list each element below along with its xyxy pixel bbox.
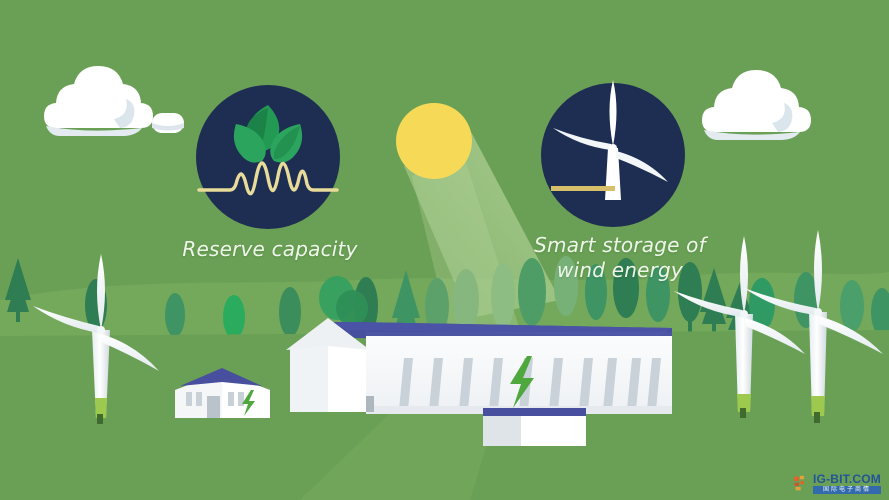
wind-storage-label: Smart storage of wind energy: [505, 233, 735, 283]
sun: [396, 103, 472, 179]
cloud-left-small: [152, 113, 184, 133]
front-annex-building: [483, 408, 586, 446]
gold-bar-icon: [551, 186, 615, 191]
ig-bit-watermark: IG-BIT.COM 国际电子商情: [793, 473, 881, 494]
watermark-logo-icon: [793, 475, 810, 492]
energy-storage-warehouse: [286, 318, 672, 414]
reserve-capacity-label: Reserve capacity: [170, 237, 370, 262]
illustration-scene: Reserve capacity Smart storage of wind e…: [0, 0, 889, 500]
landscape-layer: [0, 0, 889, 500]
reserve-capacity-icon-circle[interactable]: [196, 85, 340, 229]
watermark-subtitle: 国际电子商情: [813, 486, 881, 494]
watermark-title: IG-BIT.COM: [813, 473, 881, 485]
